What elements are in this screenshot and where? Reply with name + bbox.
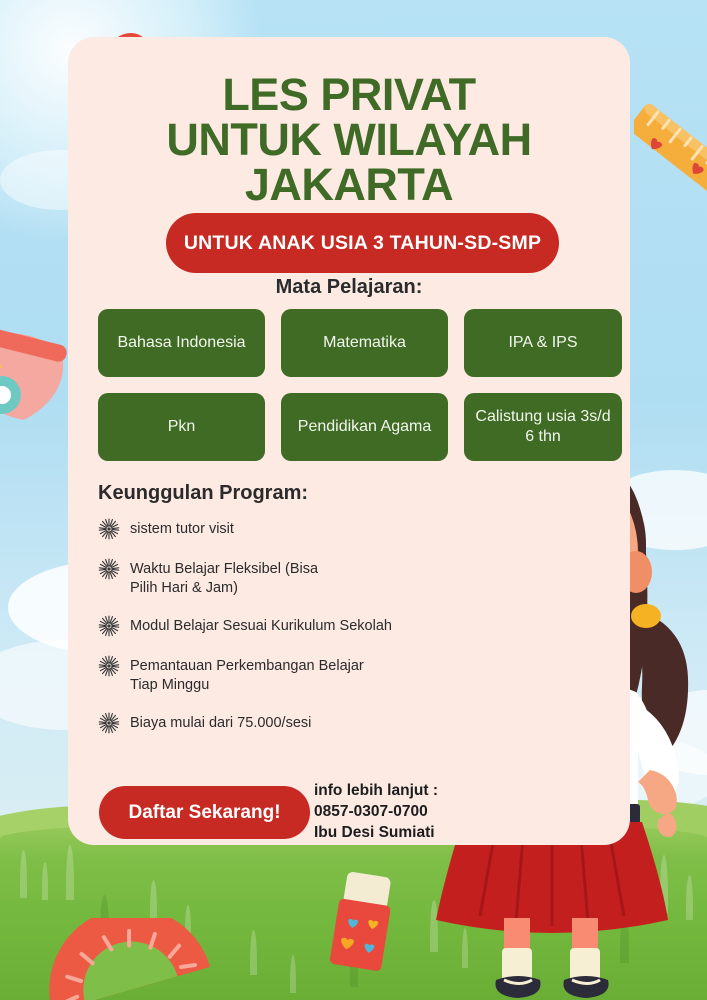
contact-info: info lebih lanjut : 0857-0307-0700 Ibu D… [314, 780, 514, 843]
headline-line-1: LES PRIVAT [68, 72, 630, 117]
list-item: Modul Belajar Sesuai Kurikulum Sekolah [98, 613, 428, 637]
subject-chip: IPA & IPS [464, 309, 622, 377]
list-item: Waktu Belajar Fleksibel (Bisa Pilih Hari… [98, 556, 428, 597]
age-range-banner: UNTUK ANAK USIA 3 TAHUN-SD-SMP [166, 213, 559, 273]
benefit-text: Waktu Belajar Fleksibel (Bisa Pilih Hari… [130, 556, 318, 597]
contact-name: Ibu Desi Sumiati [314, 822, 514, 843]
subjects-grid: Bahasa Indonesia Matematika IPA & IPS Pk… [98, 309, 606, 461]
subject-chip: Pkn [98, 393, 265, 461]
benefit-text: Modul Belajar Sesuai Kurikulum Sekolah [130, 613, 392, 636]
page-title: LES PRIVAT UNTUK WILAYAH JAKARTA [68, 72, 630, 207]
subject-chip: Pendidikan Agama [281, 393, 448, 461]
subjects-heading: Mata Pelajaran: [68, 276, 630, 299]
subject-chip: Calistung usia 3s/d 6 thn [464, 393, 622, 461]
headline-line-3: JAKARTA [68, 162, 630, 207]
protractor-icon [38, 918, 218, 1000]
age-range-text: UNTUK ANAK USIA 3 TAHUN-SD-SMP [184, 232, 541, 255]
sunburst-bullet-icon [98, 655, 120, 677]
list-item: sistem tutor visit [98, 516, 428, 540]
ruler-icon [634, 100, 707, 204]
benefit-text: Pemantauan Perkembangan Belajar Tiap Min… [130, 653, 364, 694]
headline-line-2: UNTUK WILAYAH [68, 117, 630, 162]
subject-chip: Matematika [281, 309, 448, 377]
poster-root: LES PRIVAT UNTUK WILAYAH JAKARTA UNTUK A… [0, 0, 707, 1000]
sunburst-bullet-icon [98, 712, 120, 734]
eraser-icon [322, 868, 402, 978]
list-item: Pemantauan Perkembangan Belajar Tiap Min… [98, 653, 428, 694]
benefits-heading: Keunggulan Program: [98, 482, 308, 505]
sunburst-bullet-icon [98, 558, 120, 580]
benefit-text: Biaya mulai dari 75.000/sesi [130, 710, 311, 733]
list-item: Biaya mulai dari 75.000/sesi [98, 710, 428, 734]
contact-label: info lebih lanjut : [314, 780, 514, 801]
sunburst-bullet-icon [98, 615, 120, 637]
sunburst-bullet-icon [98, 518, 120, 540]
benefits-list: sistem tutor visit Waktu Belajar F [98, 516, 428, 750]
subject-chip: Bahasa Indonesia [98, 309, 265, 377]
register-button[interactable]: Daftar Sekarang! [99, 786, 310, 839]
contact-phone[interactable]: 0857-0307-0700 [314, 801, 514, 822]
benefit-text: sistem tutor visit [130, 516, 234, 539]
